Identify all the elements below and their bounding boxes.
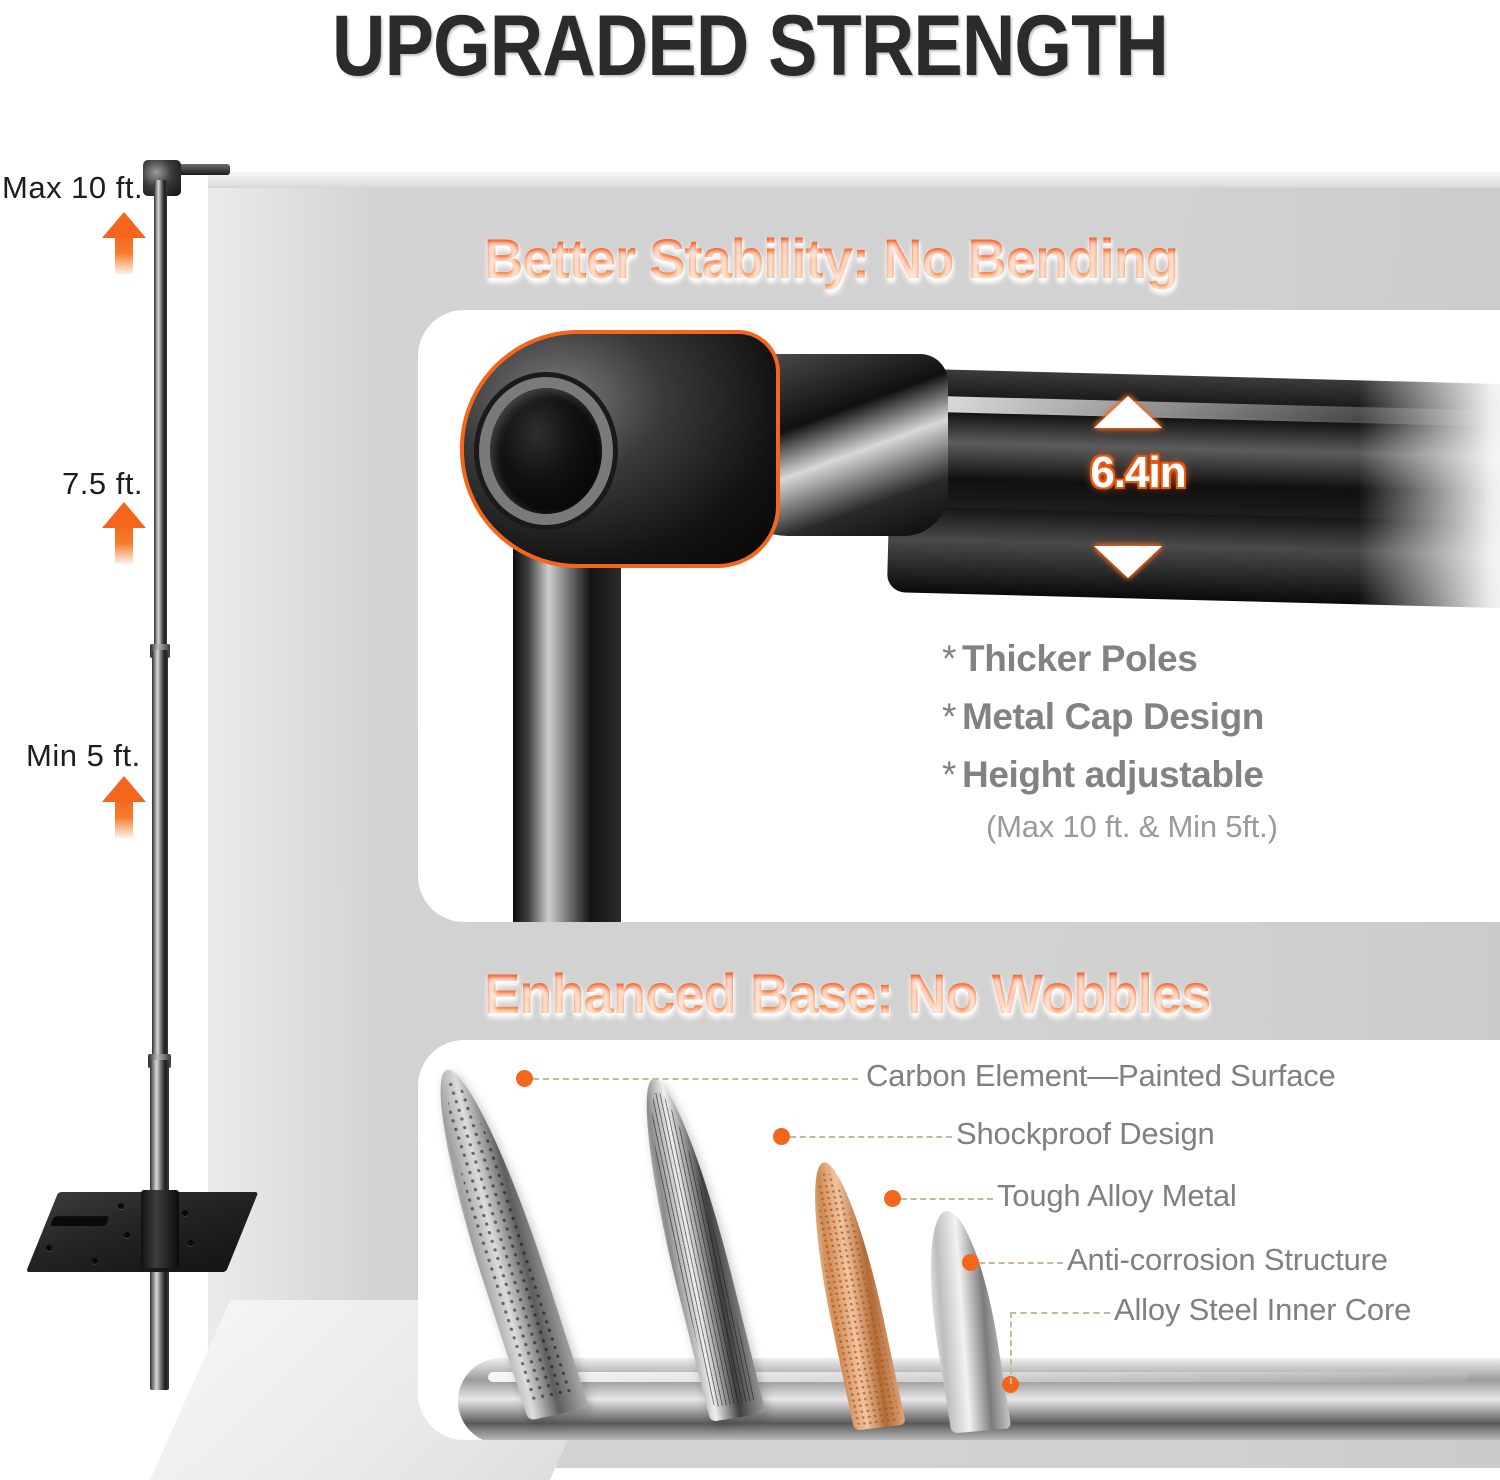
material-layer-carbon-texture	[429, 1076, 577, 1401]
height-label-max: Max 10 ft.	[2, 170, 143, 206]
section-heading-stability: Better Stability: No Bending	[484, 228, 1178, 290]
backdrop-top-edge	[208, 172, 1500, 188]
callout-label-carbon-element: Carbon Element—Painted Surface	[866, 1058, 1336, 1094]
callout-leader-line	[901, 1198, 993, 1200]
base-hole	[124, 1232, 130, 1238]
measurement-value-label: 6.4in	[1058, 448, 1218, 498]
base-hole	[46, 1245, 52, 1251]
section-heading-base: Enhanced Base: No Wobbles	[484, 963, 1210, 1025]
callout-leader-vertical	[1010, 1312, 1012, 1384]
height-label-min: Min 5 ft.	[26, 738, 141, 774]
feature-item: *Thicker Poles	[942, 630, 1462, 688]
feature-note: (Max 10 ft. & Min 5ft.)	[986, 804, 1462, 850]
feature-list: *Thicker Poles *Metal Cap Design *Height…	[942, 630, 1462, 850]
stand-base-socket	[141, 1190, 179, 1268]
card-base	[418, 1040, 1500, 1440]
up-arrow-icon	[102, 776, 146, 838]
image-fade-right	[1358, 350, 1500, 610]
triangle-down-icon	[1094, 546, 1162, 578]
callout-leader-line	[979, 1262, 1063, 1264]
metal-cap-bore	[490, 388, 602, 514]
asterisk-icon: *	[942, 696, 956, 737]
asterisk-icon: *	[942, 638, 956, 679]
feature-label: Metal Cap Design	[962, 696, 1264, 737]
callout-label-anti-corrosion: Anti-corrosion Structure	[1067, 1242, 1388, 1278]
feature-label: Height adjustable	[962, 754, 1264, 795]
callout-label-tough-alloy: Tough Alloy Metal	[997, 1178, 1237, 1214]
callout-dot	[962, 1254, 979, 1271]
feature-label: Thicker Poles	[962, 638, 1197, 679]
pole-segment-upper	[154, 180, 167, 660]
callout-leader-line	[1010, 1312, 1110, 1314]
triangle-up-icon	[1094, 396, 1162, 428]
callout-dot	[773, 1128, 790, 1145]
feature-item: *Metal Cap Design	[942, 688, 1462, 746]
page-title: UPGRADED STRENGTH	[105, 0, 1395, 94]
base-hole	[182, 1210, 188, 1216]
feature-item: *Height adjustable	[942, 746, 1462, 804]
up-arrow-icon	[102, 212, 146, 274]
connector-vertical-pole	[513, 540, 621, 922]
base-hole	[118, 1203, 124, 1209]
pole-segment-middle	[152, 650, 168, 1070]
base-hole	[188, 1240, 194, 1246]
callout-dot	[516, 1070, 533, 1087]
callout-leader-line	[533, 1078, 858, 1080]
up-arrow-icon	[102, 502, 146, 564]
card-stability: 6.4in *Thicker Poles *Metal Cap Design *…	[418, 310, 1500, 922]
base-hole	[92, 1258, 98, 1264]
height-label-mid: 7.5 ft.	[62, 466, 143, 502]
stand-base-slot	[50, 1215, 110, 1226]
measurement-annotation-64in: 6.4in	[1058, 396, 1218, 578]
callout-dot	[884, 1190, 901, 1207]
callout-label-alloy-steel-core: Alloy Steel Inner Core	[1114, 1292, 1411, 1328]
callout-label-shockproof: Shockproof Design	[956, 1116, 1215, 1152]
asterisk-icon: *	[942, 754, 956, 795]
callout-leader-line	[790, 1136, 952, 1138]
